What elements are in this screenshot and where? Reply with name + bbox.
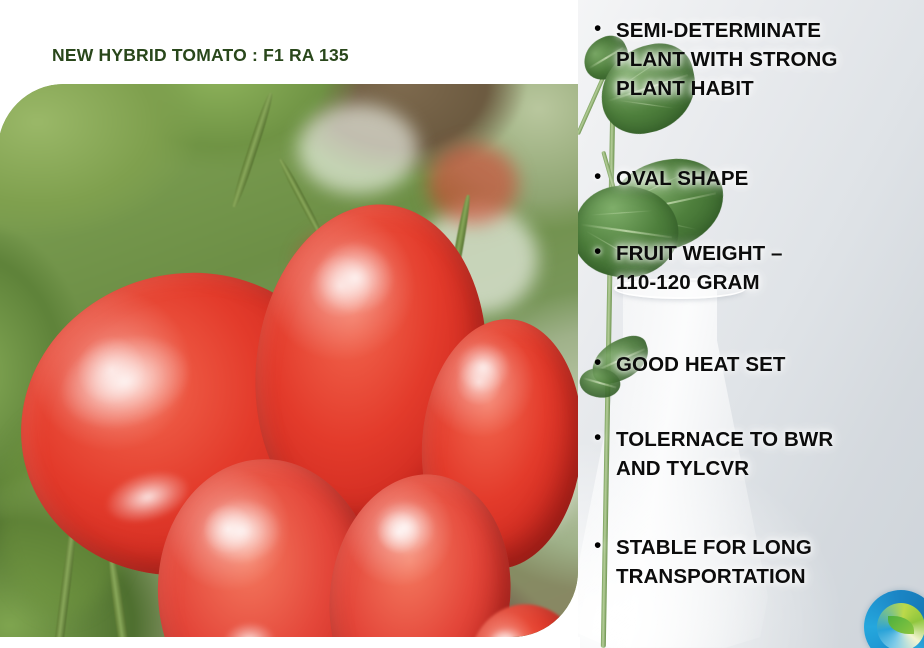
bullet-line: TOLERNACE TO BWR	[616, 425, 833, 454]
background-blur-blob	[428, 144, 518, 224]
bullet-line: FRUIT WEIGHT –	[616, 239, 783, 268]
list-item: • SEMI-DETERMINATE PLANT WITH STRONG PLA…	[594, 16, 924, 103]
bullet-line: PLANT WITH STRONG	[616, 45, 837, 74]
presentation-slide: NEW HYBRID TOMATO : F1 RA 135	[0, 0, 924, 648]
bullet-line: SEMI-DETERMINATE	[616, 16, 837, 45]
bullet-marker-icon: •	[594, 350, 616, 376]
bullet-marker-icon: •	[594, 164, 616, 190]
left-panel: NEW HYBRID TOMATO : F1 RA 135	[0, 0, 580, 648]
bullet-line: GOOD HEAT SET	[616, 350, 785, 379]
background-blur-blob	[298, 104, 418, 194]
list-item: • OVAL SHAPE	[594, 164, 924, 193]
bullet-fruit-weight: FRUIT WEIGHT – 110-120 GRAM	[616, 239, 783, 297]
bullet-line: 110-120 GRAM	[616, 268, 783, 297]
page-title: NEW HYBRID TOMATO : F1 RA 135	[52, 45, 349, 66]
bullet-marker-icon: •	[594, 533, 616, 559]
bullet-oval-shape: OVAL SHAPE	[616, 164, 748, 193]
bullet-marker-icon: •	[594, 239, 616, 265]
bullet-semi-determinate: SEMI-DETERMINATE PLANT WITH STRONG PLANT…	[616, 16, 837, 103]
bullet-line: TRANSPORTATION	[616, 562, 812, 591]
bullet-good-heat-set: GOOD HEAT SET	[616, 350, 785, 379]
right-panel: • SEMI-DETERMINATE PLANT WITH STRONG PLA…	[578, 0, 924, 648]
bullet-transportation: STABLE FOR LONG TRANSPORTATION	[616, 533, 812, 591]
bullet-line: AND TYLCVR	[616, 454, 833, 483]
list-item: • TOLERNACE TO BWR AND TYLCVR	[594, 425, 924, 483]
bullet-marker-icon: •	[594, 16, 616, 42]
list-item: • FRUIT WEIGHT – 110-120 GRAM	[594, 239, 924, 297]
list-item: • GOOD HEAT SET	[594, 350, 924, 379]
bullet-line: PLANT HABIT	[616, 74, 837, 103]
feature-bullet-list: • SEMI-DETERMINATE PLANT WITH STRONG PLA…	[578, 0, 924, 648]
tomato-cluster-photograph	[0, 84, 578, 637]
bullet-line: STABLE FOR LONG	[616, 533, 812, 562]
bullet-line: OVAL SHAPE	[616, 164, 748, 193]
bottom-margin	[0, 637, 580, 648]
bullet-marker-icon: •	[594, 425, 616, 451]
list-item: • STABLE FOR LONG TRANSPORTATION	[594, 533, 924, 591]
bullet-tolerance: TOLERNACE TO BWR AND TYLCVR	[616, 425, 833, 483]
